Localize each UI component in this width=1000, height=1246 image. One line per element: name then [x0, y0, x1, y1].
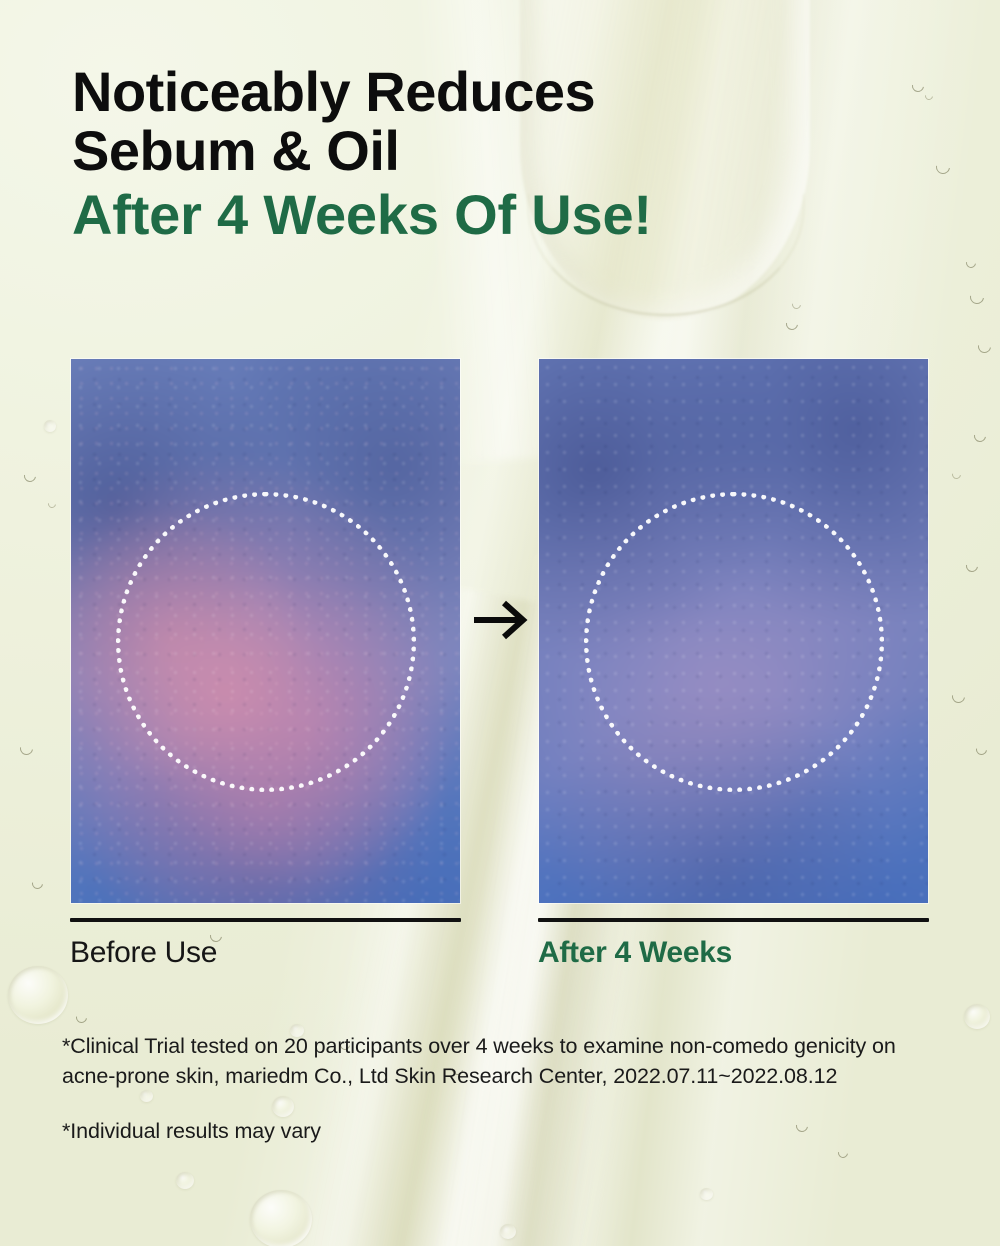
arrow-right-icon [470, 596, 534, 644]
before-image-panel [70, 358, 461, 904]
micro-bubble-icon [836, 1146, 850, 1160]
after-caption-label: After 4 Weeks [538, 936, 929, 970]
bubble-icon [250, 1190, 312, 1246]
after-caption-rule [538, 918, 929, 922]
before-caption-group: Before Use [70, 918, 461, 970]
micro-bubble-icon [923, 90, 934, 101]
headline-line-3: After 4 Weeks Of Use! [72, 185, 852, 244]
after-highlight-circle [584, 492, 884, 792]
bubble-icon [8, 966, 68, 1024]
footnotes: *Clinical Trial tested on 20 participant… [62, 1032, 952, 1147]
micro-bubble-icon [975, 337, 993, 355]
footnote-clinical-trial: *Clinical Trial tested on 20 participant… [62, 1032, 952, 1091]
bubble-icon [964, 1004, 990, 1029]
headline-line-1: Noticeably Reduces [72, 62, 852, 121]
micro-bubble-icon [74, 1010, 89, 1025]
after-caption-group: After 4 Weeks [538, 918, 929, 970]
footnote-disclaimer: *Individual results may vary [62, 1117, 952, 1147]
bubble-icon [500, 1224, 516, 1239]
footnote-spacer [62, 1091, 952, 1117]
bubble-icon [700, 1188, 713, 1200]
headline-line-2: Sebum & Oil [72, 121, 852, 180]
micro-bubble-icon [790, 298, 803, 311]
micro-bubble-icon [784, 316, 801, 333]
micro-bubble-icon [964, 256, 978, 270]
before-caption-label: Before Use [70, 936, 461, 970]
before-highlight-circle [116, 492, 416, 792]
micro-bubble-icon [967, 287, 986, 306]
after-image-panel [538, 358, 929, 904]
headline: Noticeably Reduces Sebum & Oil After 4 W… [72, 62, 852, 244]
bubble-icon [176, 1172, 194, 1189]
micro-bubble-icon [933, 157, 952, 176]
micro-bubble-icon [910, 78, 927, 95]
product-claim-poster: Noticeably Reduces Sebum & Oil After 4 W… [0, 0, 1000, 1246]
before-caption-rule [70, 918, 461, 922]
